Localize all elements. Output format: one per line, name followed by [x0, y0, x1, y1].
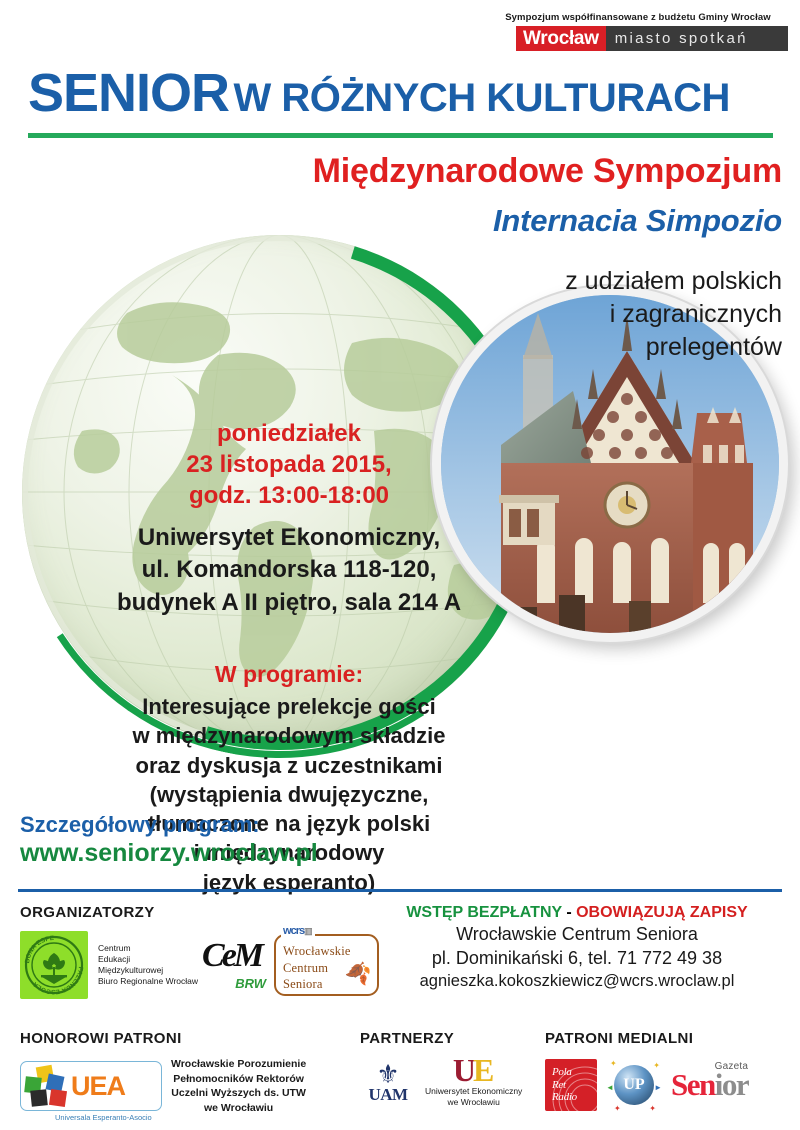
pola-retradio-logo: Pola Ret Radio — [545, 1059, 597, 1111]
cem-caption: Centrum Edukacji Międzykulturowej Biuro … — [98, 943, 198, 987]
up-spark-3: ◄ — [606, 1083, 614, 1092]
media-patrons-section: PATRONI MEDIALNI Pola Ret Radio UP ✦ ✦ ◄… — [545, 1030, 795, 1113]
senior-word-part-2: ior — [715, 1067, 748, 1102]
uam-wordmark: UAM — [360, 1085, 416, 1105]
agreement-line-3: Uczelni Wyższych ds. UTW — [171, 1086, 306, 1101]
wcrs-abbr: wcrs▥ — [281, 925, 315, 937]
date-line-1: poniedziałek — [88, 418, 490, 449]
speakers-note: z udziałem polskich i zagranicznych prel… — [442, 265, 782, 364]
program-link-label: Szczegółowy program: — [20, 812, 318, 838]
program-line-7: język esperanto) — [68, 868, 510, 897]
gazeta-senior-logo: Gazeta Senior — [671, 1070, 748, 1099]
wroclaw-agreement-text: Wrocławskie Porozumienie Pełnomocników R… — [171, 1057, 306, 1116]
sponsor-caption: Sympozjum współfinansowane z budżetu Gmi… — [488, 12, 788, 23]
speakers-line-3: prelegentów — [442, 331, 782, 364]
up-spark-1: ✦ — [610, 1059, 617, 1068]
radio-line-3: Radio — [552, 1091, 597, 1104]
program-line-1: Interesujące prelekcje gości — [68, 692, 510, 721]
ue-caption-line-1: Uniwersytet Ekonomiczny — [425, 1086, 522, 1097]
title-line: SENIOR W RÓŻNYCH KULTURACH — [28, 62, 780, 124]
partners-logos: ⚜ UAM U E Uniwersytet Ekonomiczny we Wro… — [360, 1057, 530, 1108]
ue-logo: U E Uniwersytet Ekonomiczny we Wrocławiu — [425, 1057, 522, 1108]
uea-logo: UEA Universala Esperanto-Asocio — [20, 1061, 162, 1111]
registration-free-label: WSTĘP BEZPŁATNY — [406, 904, 562, 921]
senior-word-part-1: Sen — [671, 1067, 715, 1102]
cem-line-2: Edukacji — [98, 954, 198, 965]
agreement-line-2: Pełnomocników Rektorów — [171, 1072, 306, 1087]
speakers-line-2: i zagranicznych — [442, 298, 782, 331]
agreement-line-4: we Wrocławiu — [171, 1101, 306, 1116]
cem-brw-logo: Centrum Edukacji Międzykulturowej Biuro … — [98, 939, 264, 991]
wroclaw-logo-bar: Wrocław miasto spotkań — [516, 26, 788, 51]
honorary-patrons-heading: HONOROWI PATRONI — [20, 1030, 340, 1047]
date-line-3: godz. 13:00-18:00 — [88, 480, 490, 511]
organizers-heading: ORGANIZATORZY — [20, 904, 375, 921]
up-spark-6: ✦ — [649, 1104, 656, 1113]
up-logo: UP ✦ ✦ ◄ ► ✦ ✦ — [606, 1057, 662, 1113]
wcrs-line-1: Wrocławskie — [283, 943, 377, 960]
honorary-patrons-section: HONOROWI PATRONI UEA Universala Esperant… — [20, 1030, 340, 1116]
honorary-patrons-logos: UEA Universala Esperanto-Asocio Wrocławs… — [20, 1057, 340, 1116]
venue-line-1: Uniwersytet Ekonomiczny, — [68, 522, 510, 554]
ue-letter-e: E — [473, 1057, 494, 1084]
organizers-logos: BONA ESPERO FAZENDA ESCOLA Centrum — [20, 931, 375, 999]
bona-espero-logo: BONA ESPERO FAZENDA ESCOLA — [20, 931, 88, 999]
organizers-section: ORGANIZATORZY BONA ESPERO FAZENDA ESCOLA — [20, 904, 375, 999]
cem-line-1: Centrum — [98, 943, 198, 954]
uam-logo: ⚜ UAM — [360, 1061, 416, 1105]
wcrs-abbr-text: wcrs — [283, 925, 304, 937]
registration-address: pl. Dominikański 6, tel. 71 772 49 38 — [372, 946, 782, 970]
hero-graphic: poniedziałek 23 listopada 2015, godz. 13… — [0, 130, 800, 870]
registration-dash: - — [562, 904, 576, 921]
radio-line-2: Ret — [552, 1079, 597, 1092]
program-heading: W programie: — [88, 661, 490, 688]
page-title: SENIOR W RÓŻNYCH KULTURACH — [28, 62, 780, 138]
up-globe-icon: UP — [614, 1065, 654, 1105]
partners-heading: PARTNERZY — [360, 1030, 530, 1047]
senior-wordmark: Senior — [671, 1070, 748, 1099]
wcrs-logo: wcrs▥ Wrocławskie Centrum Seniora 🍂 — [274, 934, 379, 996]
cem-monogram-letters: CeM — [202, 939, 264, 973]
date-line-2: 23 listopada 2015, — [88, 449, 490, 480]
registration-org: Wrocławskie Centrum Seniora — [372, 922, 782, 946]
title-word-rest: W RÓŻNYCH KULTURACH — [234, 76, 730, 120]
registration-section: WSTĘP BEZPŁATNY - OBOWIĄZUJĄ ZAPISY Wroc… — [372, 904, 782, 992]
venue-line-2: ul. Komandorska 118-120, — [68, 554, 510, 586]
speakers-line-1: z udziałem polskich — [442, 265, 782, 298]
gazeta-label: Gazeta — [715, 1061, 748, 1072]
program-line-4: (wystąpienia dwujęzyczne, — [68, 780, 510, 809]
cem-monogram: CeM BRW — [202, 939, 264, 991]
bona-espero-svg: BONA ESPERO FAZENDA ESCOLA — [20, 931, 88, 999]
ue-monogram: U E — [425, 1057, 522, 1084]
section-divider — [18, 889, 782, 892]
radio-line-1: Pola — [552, 1066, 597, 1079]
media-patrons-logos: Pola Ret Radio UP ✦ ✦ ◄ ► ✦ ✦ Gazeta Sen… — [545, 1057, 795, 1113]
program-link-url[interactable]: www.seniorzy.wroclaw.pl — [20, 839, 318, 868]
uea-caption: Universala Esperanto-Asocio — [53, 1113, 154, 1122]
partners-section: PARTNERZY ⚜ UAM U E Uniwersytet Ekonomic… — [360, 1030, 530, 1108]
wroclaw-slogan: miasto spotkań — [606, 26, 788, 51]
cem-line-4: Biuro Regionalne Wrocław — [98, 976, 198, 987]
registration-heading: WSTĘP BEZPŁATNY - OBOWIĄZUJĄ ZAPISY — [372, 904, 782, 922]
up-spark-5: ✦ — [614, 1104, 621, 1113]
program-link-block: Szczegółowy program: www.seniorzy.wrocla… — [20, 812, 318, 868]
registration-required-label: OBOWIĄZUJĄ ZAPISY — [576, 904, 748, 921]
uea-wordmark: UEA — [71, 1073, 125, 1100]
uam-crest-icon: ⚜ — [360, 1061, 416, 1087]
ue-caption-line-2: we Wrocławiu — [425, 1097, 522, 1108]
event-venue-block: Uniwersytet Ekonomiczny, ul. Komandorska… — [68, 522, 510, 619]
venue-line-3: budynek A II piętro, sala 214 A — [68, 587, 510, 619]
cem-monogram-brw: BRW — [235, 976, 266, 991]
event-date-block: poniedziałek 23 listopada 2015, godz. 13… — [88, 418, 490, 512]
agreement-line-1: Wrocławskie Porozumienie — [171, 1057, 306, 1072]
wroclaw-sponsor-logo: Sympozjum współfinansowane z budżetu Gmi… — [488, 12, 788, 51]
up-spark-2: ✦ — [653, 1061, 660, 1070]
ue-caption: Uniwersytet Ekonomiczny we Wrocławiu — [425, 1086, 522, 1108]
registration-email[interactable]: agnieszka.kokoszkiewicz@wcrs.wroclaw.pl — [372, 970, 782, 992]
wroclaw-wordmark: Wrocław — [516, 26, 606, 51]
title-word-senior: SENIOR — [28, 63, 229, 123]
program-line-3: oraz dyskusja z uczestnikami — [68, 751, 510, 780]
cem-line-3: Międzykulturowej — [98, 965, 198, 976]
media-patrons-heading: PATRONI MEDIALNI — [545, 1030, 795, 1047]
up-spark-4: ► — [654, 1083, 662, 1092]
radio-wordmark: Pola Ret Radio — [545, 1059, 597, 1111]
uea-squares-icon — [25, 1066, 69, 1106]
program-line-2: w międzynarodowym składzie — [68, 721, 510, 750]
